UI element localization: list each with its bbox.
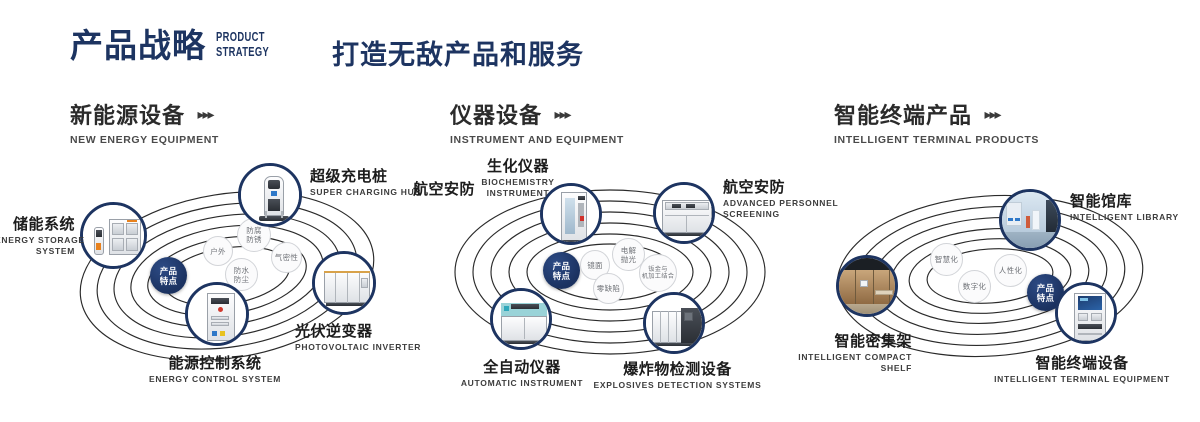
feature-line1: 防水 bbox=[234, 266, 250, 275]
caption-energy-control-system: 能源控制系统 ENERGY CONTROL SYSTEM bbox=[115, 352, 315, 384]
diagram-new-energy: 产品 特点 户外 防腐 防锈 防水 防尘 气密性 bbox=[55, 160, 405, 390]
caption-en-line1: BIOCHEMISTRY bbox=[453, 177, 583, 187]
feature-line1: 人性化 bbox=[999, 266, 1022, 275]
node-intelligent-compact-shelf[interactable] bbox=[836, 255, 898, 317]
page-title-en-line2: STRATEGY bbox=[216, 44, 269, 59]
caption-en-line1: ENERGY STORAGE bbox=[0, 235, 75, 245]
feature-line1: 户外 bbox=[210, 247, 226, 256]
feature-line1: 智慧化 bbox=[935, 255, 958, 264]
explosives-detector-icon bbox=[646, 295, 702, 351]
caption-cn: 智能终端设备 bbox=[982, 352, 1182, 373]
charging-pile-icon bbox=[241, 166, 299, 224]
chevrons-right-icon: ▸▸▸ bbox=[984, 106, 999, 123]
library-room-icon bbox=[1002, 192, 1058, 248]
page-title-cn: 产品战略 bbox=[70, 26, 206, 66]
feature-line1: 镜面 bbox=[587, 261, 603, 270]
node-intelligent-terminal-equipment[interactable] bbox=[1055, 282, 1117, 344]
page-title-en: PRODUCT STRATEGY bbox=[216, 29, 269, 59]
feature-line1: 零缺陷 bbox=[597, 284, 620, 293]
feature-line1: 气密性 bbox=[275, 253, 298, 262]
caption-en-line2: INSTRUMENT bbox=[453, 188, 583, 198]
core-line2: 特点 bbox=[553, 271, 571, 281]
caption-en-line1: ENERGY CONTROL SYSTEM bbox=[115, 374, 315, 384]
node-energy-storage-system[interactable] bbox=[80, 202, 147, 269]
caption-cn: 智能馆库 bbox=[1070, 190, 1179, 211]
feature-line2: 防尘 bbox=[234, 275, 250, 284]
feature-line1: 防腐 bbox=[246, 226, 262, 235]
feature-bubble-sheetmetal-machining: 钣金与 机加工结合 bbox=[639, 254, 677, 292]
section-title-en: INSTRUMENT AND EQUIPMENT bbox=[450, 134, 624, 146]
node-advanced-personnel-screening[interactable] bbox=[653, 182, 715, 244]
caption-energy-storage-system: 储能系统 ENERGY STORAGE SYSTEM bbox=[0, 213, 75, 256]
feature-bubble-airtight: 气密性 bbox=[271, 242, 302, 273]
feature-line2: 抛光 bbox=[621, 255, 637, 264]
compact-shelf-icon bbox=[839, 258, 895, 314]
caption-en-line1: INTELLIGENT TERMINAL EQUIPMENT bbox=[982, 374, 1182, 384]
feature-core-bubble: 产品 特点 bbox=[543, 252, 580, 289]
node-explosives-detection-systems[interactable] bbox=[643, 292, 705, 354]
caption-cn: 生化仪器 bbox=[453, 155, 583, 176]
core-line1: 产品 bbox=[160, 266, 178, 276]
caption-intelligent-library: 智能馆库 INTELLIGENT LIBRARY bbox=[1070, 190, 1179, 222]
caption-cn: 全自动仪器 bbox=[437, 356, 607, 377]
feature-bubble-humanized: 人性化 bbox=[994, 254, 1027, 287]
node-super-charging-hub[interactable] bbox=[238, 163, 302, 227]
chevrons-right-icon: ▸▸▸ bbox=[554, 106, 569, 123]
section-title-cn: 智能终端产品 bbox=[834, 98, 972, 130]
diagram-intelligent-terminal: 智慧化 数字化 人性化 产品 特点 bbox=[812, 160, 1182, 390]
feature-line1: 钣金与 bbox=[648, 266, 667, 273]
energy-storage-cabinet-icon bbox=[83, 205, 144, 266]
caption-intelligent-terminal-equipment: 智能终端设备 INTELLIGENT TERMINAL EQUIPMENT bbox=[982, 352, 1182, 384]
caption-en-line2: SHELF bbox=[732, 363, 912, 373]
node-energy-control-system[interactable] bbox=[185, 282, 249, 346]
core-line2: 特点 bbox=[1037, 293, 1055, 303]
feature-bubble-zero-defect: 零缺陷 bbox=[593, 273, 624, 304]
automatic-instrument-icon bbox=[493, 291, 549, 347]
caption-biochemistry-instrument: 生化仪器 BIOCHEMISTRY INSTRUMENT bbox=[453, 155, 583, 198]
caption-cn: 能源控制系统 bbox=[115, 352, 315, 373]
caption-en-line1: PHOTOVOLTAIC INVERTER bbox=[295, 342, 421, 352]
caption-intelligent-compact-shelf: 智能密集架 INTELLIGENT COMPACT SHELF bbox=[732, 330, 912, 373]
core-line1: 产品 bbox=[1037, 283, 1055, 293]
node-automatic-instrument[interactable] bbox=[490, 288, 552, 350]
section-title-intelligent-terminal: 智能终端产品 ▸▸▸ INTELLIGENT TERMINAL PRODUCTS bbox=[834, 98, 1039, 146]
feature-bubble-intelligent: 智慧化 bbox=[930, 243, 963, 276]
core-line1: 产品 bbox=[553, 261, 571, 271]
caption-en-line1: AUTOMATIC INSTRUMENT bbox=[437, 378, 607, 388]
feature-line2: 机加工结合 bbox=[642, 273, 674, 280]
caption-cn: 光伏逆变器 bbox=[295, 320, 421, 341]
page-title-en-line1: PRODUCT bbox=[216, 29, 269, 44]
caption-en-line1: INTELLIGENT COMPACT bbox=[732, 352, 912, 362]
section-title-instrument: 仪器设备 ▸▸▸ INSTRUMENT AND EQUIPMENT bbox=[450, 98, 624, 146]
section-title-en: INTELLIGENT TERMINAL PRODUCTS bbox=[834, 134, 1039, 146]
feature-core-bubble: 产品 特点 bbox=[150, 257, 187, 294]
pv-inverter-icon bbox=[315, 254, 373, 312]
caption-en-line1: INTELLIGENT LIBRARY bbox=[1070, 212, 1179, 222]
page-subtitle: 打造无敌产品和服务 bbox=[332, 33, 584, 72]
caption-automatic-instrument: 全自动仪器 AUTOMATIC INSTRUMENT bbox=[437, 356, 607, 388]
caption-en-line1: EXPLOSIVES DETECTION SYSTEMS bbox=[585, 380, 770, 390]
chevrons-right-icon: ▸▸▸ bbox=[197, 106, 212, 123]
screening-machine-icon bbox=[656, 185, 712, 241]
page-header: 产品战略 PRODUCT STRATEGY bbox=[70, 26, 290, 66]
caption-en-line2: SYSTEM bbox=[0, 246, 75, 256]
feature-line2: 防锈 bbox=[246, 235, 262, 244]
section-title-new-energy: 新能源设备 ▸▸▸ NEW ENERGY EQUIPMENT bbox=[70, 98, 219, 146]
product-strategy-infographic: 产品战略 PRODUCT STRATEGY 打造无敌产品和服务 新能源设备 ▸▸… bbox=[0, 0, 1200, 422]
feature-line1: 电解 bbox=[621, 246, 637, 255]
node-intelligent-library[interactable] bbox=[999, 189, 1061, 251]
caption-cn: 智能密集架 bbox=[732, 330, 912, 351]
feature-line1: 数字化 bbox=[963, 282, 986, 291]
caption-photovoltaic-inverter: 光伏逆变器 PHOTOVOLTAIC INVERTER bbox=[295, 320, 421, 352]
caption-cn: 储能系统 bbox=[0, 213, 75, 234]
section-title-en: NEW ENERGY EQUIPMENT bbox=[70, 134, 219, 146]
control-cabinet-icon bbox=[188, 285, 246, 343]
self-service-kiosk-icon bbox=[1058, 285, 1114, 341]
node-photovoltaic-inverter[interactable] bbox=[312, 251, 376, 315]
feature-bubble-digital: 数字化 bbox=[958, 270, 991, 303]
section-title-cn: 新能源设备 bbox=[70, 98, 185, 130]
feature-bubble-outdoor: 户外 bbox=[203, 236, 233, 266]
section-title-cn: 仪器设备 bbox=[450, 98, 542, 130]
core-line2: 特点 bbox=[160, 276, 178, 286]
